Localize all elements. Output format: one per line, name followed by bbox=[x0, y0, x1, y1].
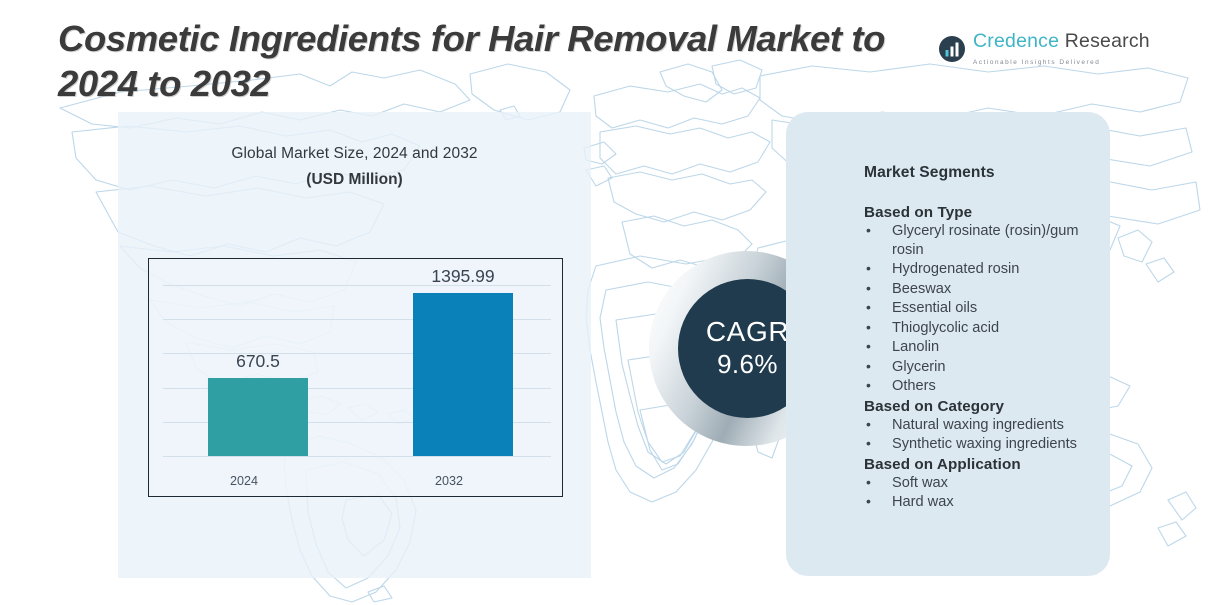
bullet-icon: • bbox=[866, 222, 871, 240]
brand-logo: Credence Research Actionable Insights De… bbox=[938, 30, 1217, 68]
bar-group: 670.5 bbox=[208, 269, 308, 456]
market-segments-panel: Market Segments Based on Type•Glyceryl r… bbox=[786, 112, 1110, 576]
list-item: •Lanolin bbox=[864, 338, 1108, 357]
bullet-icon: • bbox=[866, 280, 871, 298]
bullet-icon: • bbox=[866, 260, 871, 278]
chart-panel: Global Market Size, 2024 and 2032 (USD M… bbox=[118, 112, 591, 578]
bullet-icon: • bbox=[866, 319, 871, 337]
bullet-icon: • bbox=[866, 474, 871, 492]
logo-word-research: Research bbox=[1059, 30, 1150, 52]
x-axis-label-2024: 2024 bbox=[172, 474, 316, 488]
list-item-label: Others bbox=[892, 378, 936, 394]
market-segments-content: Market Segments Based on Type•Glyceryl r… bbox=[864, 164, 1108, 514]
chart-heading-line2: (USD Million) bbox=[118, 171, 591, 189]
list-item-label: Glyceryl rosinate (rosin)/gum rosin bbox=[892, 223, 1079, 258]
segment-group-heading: Based on Type bbox=[864, 204, 1108, 221]
x-axis-label-2032: 2032 bbox=[377, 474, 521, 488]
segment-list: •Natural waxing ingredients•Synthetic wa… bbox=[864, 416, 1108, 454]
bullet-icon: • bbox=[866, 416, 871, 434]
list-item: •Synthetic waxing ingredients bbox=[864, 435, 1108, 454]
chart-heading-line1: Global Market Size, 2024 and 2032 bbox=[118, 145, 591, 163]
logo-word-credence: Credence bbox=[973, 30, 1059, 52]
list-item-label: Thioglycolic acid bbox=[892, 320, 999, 336]
bar-2032 bbox=[413, 293, 513, 456]
list-item: •Thioglycolic acid bbox=[864, 319, 1108, 338]
page-title: Cosmetic Ingredients for Hair Removal Ma… bbox=[58, 17, 938, 106]
cagr-label: CAGR bbox=[706, 317, 789, 346]
list-item: •Natural waxing ingredients bbox=[864, 416, 1108, 435]
bullet-icon: • bbox=[866, 358, 871, 376]
bullet-icon: • bbox=[866, 338, 871, 356]
bar-chart-circle-icon bbox=[938, 35, 966, 63]
chart-heading: Global Market Size, 2024 and 2032 (USD M… bbox=[118, 145, 591, 189]
bar-value-label-2024: 670.5 bbox=[186, 351, 330, 372]
infographic-root: Cosmetic Ingredients for Hair Removal Ma… bbox=[0, 0, 1217, 605]
list-item-label: Natural waxing ingredients bbox=[892, 417, 1064, 433]
list-item: •Hydrogenated rosin bbox=[864, 260, 1108, 279]
list-item-label: Synthetic waxing ingredients bbox=[892, 436, 1077, 452]
logo-wordmark: Credence Research bbox=[973, 30, 1150, 52]
list-item: •Essential oils bbox=[864, 299, 1108, 318]
segment-group-heading: Based on Application bbox=[864, 456, 1108, 473]
list-item-label: Hard wax bbox=[892, 494, 954, 510]
cagr-value: 9.6% bbox=[717, 349, 778, 380]
segment-list: •Soft wax•Hard wax bbox=[864, 474, 1108, 512]
market-segments-groups: Based on Type•Glyceryl rosinate (rosin)/… bbox=[864, 204, 1108, 512]
list-item: •Soft wax bbox=[864, 474, 1108, 493]
logo-text-block: Credence Research Actionable Insights De… bbox=[973, 30, 1217, 68]
bullet-icon: • bbox=[866, 493, 871, 511]
list-item-label: Soft wax bbox=[892, 475, 948, 491]
list-item-label: Glycerin bbox=[892, 359, 946, 375]
list-item: •Glyceryl rosinate (rosin)/gum rosin bbox=[864, 222, 1108, 259]
list-item-label: Lanolin bbox=[892, 339, 939, 355]
bullet-icon: • bbox=[866, 299, 871, 317]
segment-list: •Glyceryl rosinate (rosin)/gum rosin•Hyd… bbox=[864, 222, 1108, 396]
logo-tagline: Actionable Insights Delivered bbox=[973, 59, 1100, 66]
bullet-icon: • bbox=[866, 435, 871, 453]
list-item: •Glycerin bbox=[864, 358, 1108, 377]
list-item: •Beeswax bbox=[864, 280, 1108, 299]
bullet-icon: • bbox=[866, 377, 871, 395]
bar-value-label-2032: 1395.99 bbox=[391, 266, 535, 287]
list-item-label: Hydrogenated rosin bbox=[892, 261, 1019, 277]
gridline bbox=[163, 456, 551, 457]
segment-group-heading: Based on Category bbox=[864, 398, 1108, 415]
list-item-label: Essential oils bbox=[892, 300, 977, 316]
bar-2024 bbox=[208, 378, 308, 456]
list-item: •Others bbox=[864, 377, 1108, 396]
market-segments-title: Market Segments bbox=[864, 164, 1108, 182]
bar-chart: 670.51395.99 20242032 bbox=[148, 258, 563, 497]
bar-group: 1395.99 bbox=[413, 269, 513, 456]
list-item: •Hard wax bbox=[864, 493, 1108, 512]
chart-plot-area: 670.51395.99 bbox=[163, 269, 550, 456]
list-item-label: Beeswax bbox=[892, 281, 951, 297]
